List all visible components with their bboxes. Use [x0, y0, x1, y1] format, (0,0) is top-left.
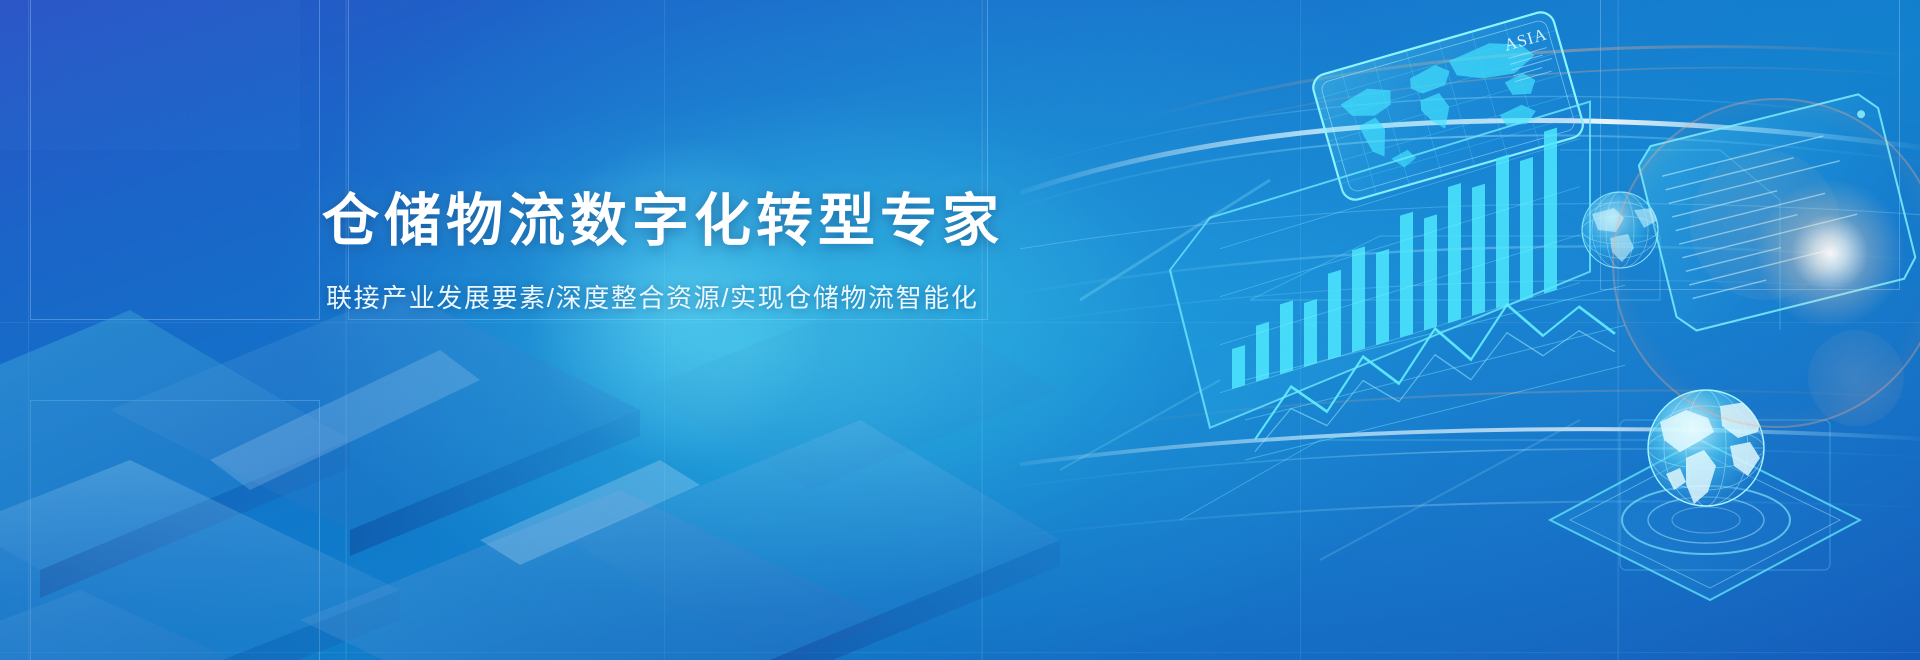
page-title: 仓储物流数字化转型专家 [322, 190, 1082, 254]
tech-hud-graphic: ASIA [1020, 0, 1920, 660]
globe-small [1582, 192, 1658, 268]
bar-chart-bars [1232, 128, 1557, 389]
hero-banner: ASIA [0, 0, 1920, 660]
center-glow [300, 90, 1200, 610]
svg-text:ASIA: ASIA [1502, 24, 1549, 54]
lens-flare-ghost-2 [1808, 330, 1904, 426]
background-grid-vertical [0, 0, 1920, 660]
page-subtitle: 联接产业发展要素/深度整合资源/实现仓储物流智能化 [326, 282, 1082, 316]
bar-chart-panel [1170, 102, 1590, 440]
world-map-panel: ASIA [1310, 9, 1586, 203]
isometric-tiles-pattern [0, 290, 1060, 660]
hud-wireframe [1180, 150, 1830, 570]
line-chart-series [1255, 278, 1615, 440]
lens-flare-ring [1612, 98, 1920, 428]
lens-flare-ghost-1 [1690, 150, 1840, 300]
data-text-panel [1635, 90, 1920, 334]
grid-box-outline-low [30, 400, 320, 660]
light-streaks [1020, 47, 1920, 540]
hero-copy: 仓储物流数字化转型专家 联接产业发展要素/深度整合资源/实现仓储物流智能化 [322, 190, 1082, 316]
edge-glows [1060, 180, 1580, 560]
globe-platform-panel [1550, 390, 1860, 600]
lens-flare-core [1745, 168, 1915, 338]
map-panel-label: ASIA [1502, 24, 1557, 81]
grid-box-outline-right [1600, 0, 1900, 290]
line-chart-panel [1245, 275, 1625, 460]
noise-grain-overlay [0, 0, 300, 150]
grid-box-outline-left [30, 0, 320, 320]
background-grid [0, 0, 1920, 660]
data-text-lines [1662, 133, 1867, 299]
